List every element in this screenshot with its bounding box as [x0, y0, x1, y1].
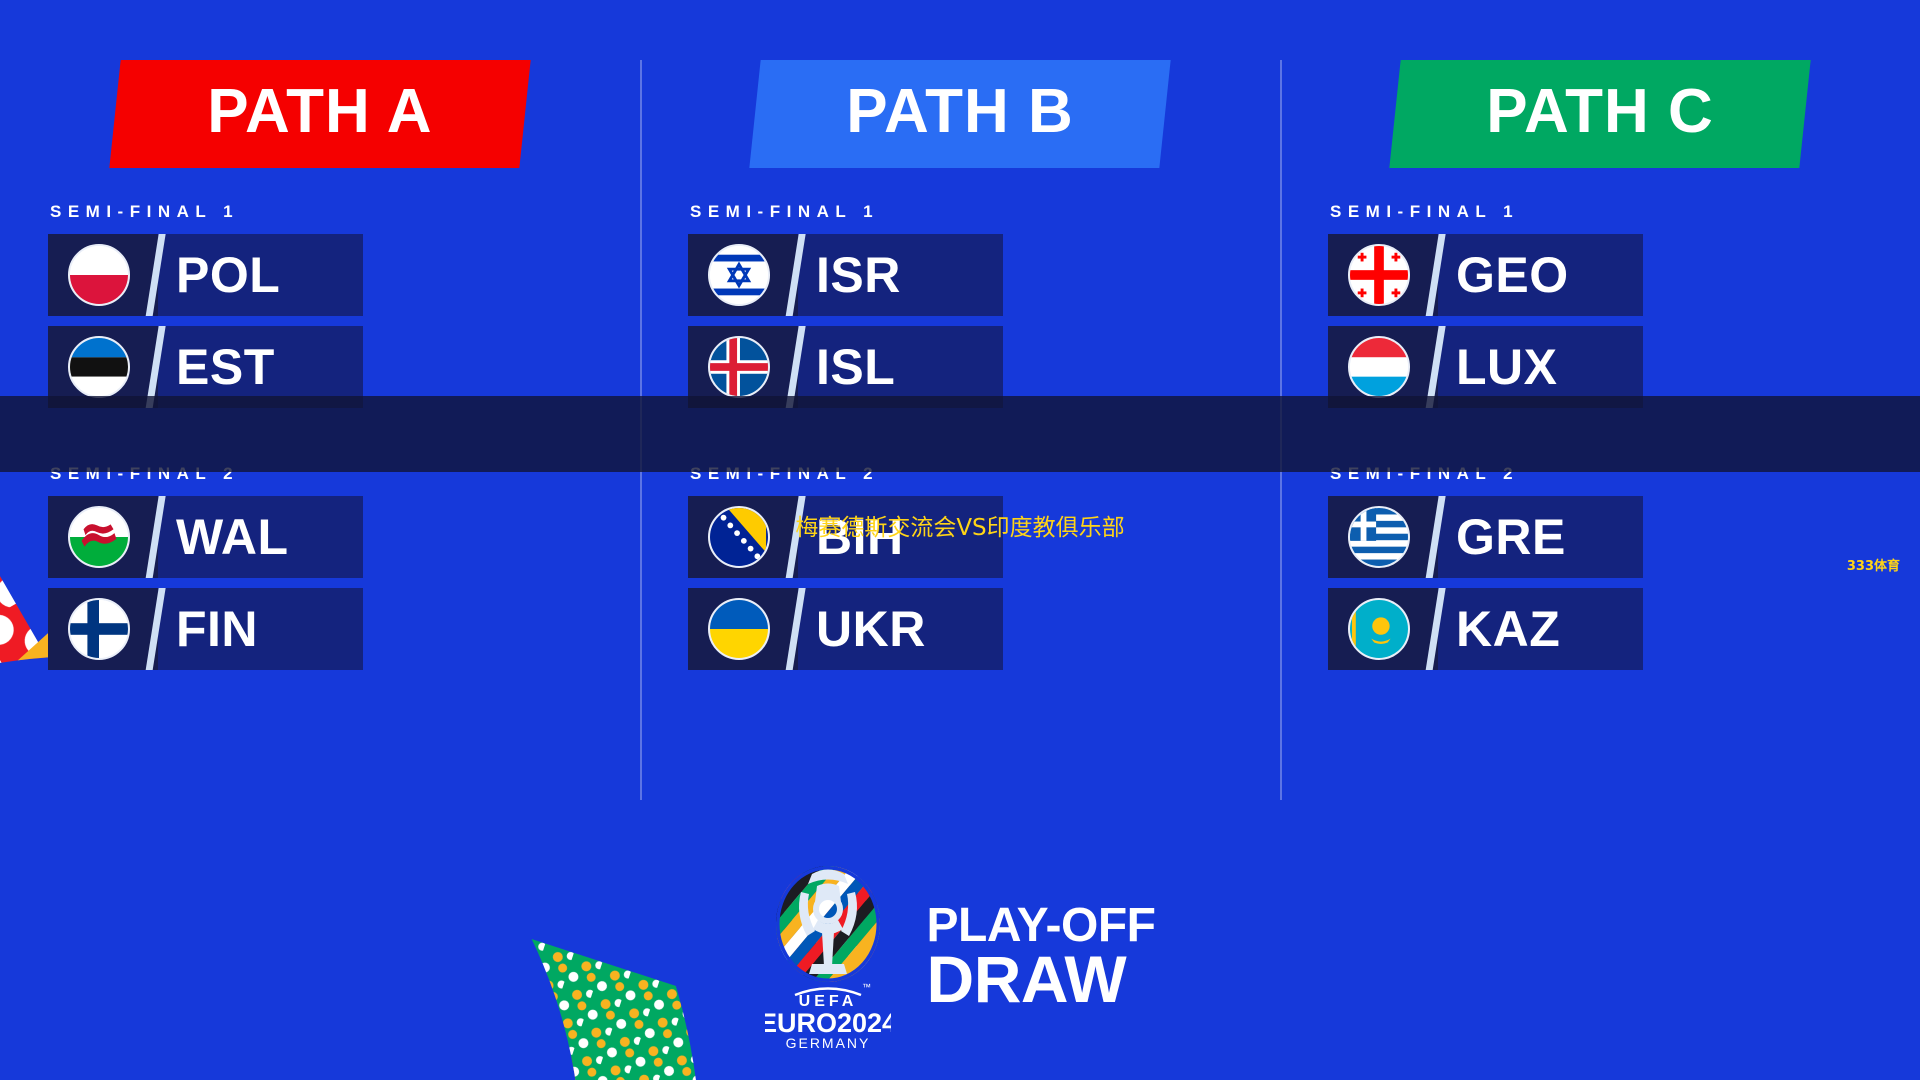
team-row[interactable]: ISR: [688, 234, 1003, 316]
team-code: GEO: [1456, 250, 1569, 300]
path-banner-label-a: PATH A: [208, 81, 433, 143]
team-rows-a1: POL EST: [48, 234, 640, 408]
semifinal-label-a1: SEMI-FINAL 1: [50, 202, 640, 222]
iceland-flag-icon: [708, 336, 770, 398]
team-row[interactable]: FIN: [48, 588, 363, 670]
ukraine-flag-icon: [708, 598, 770, 660]
watermark-text: 333体育: [1847, 555, 1900, 574]
team-code: ISR: [816, 250, 901, 300]
team-code: EST: [176, 342, 275, 392]
path-banner-b: PATH B: [749, 60, 1170, 168]
playoff-draw-title: PLAY-OFF DRAW: [927, 903, 1156, 1011]
team-row[interactable]: KAZ: [1328, 588, 1643, 670]
semifinal-label-c1: SEMI-FINAL 1: [1330, 202, 1920, 222]
team-code: LUX: [1456, 342, 1558, 392]
team-row[interactable]: POL: [48, 234, 363, 316]
team-code: KAZ: [1456, 604, 1560, 654]
logo-euro-2024-text: EURO2024: [765, 1008, 891, 1038]
banner-wrap-c: PATH C: [1280, 60, 1920, 168]
banner-wrap-a: PATH A: [0, 60, 640, 168]
footer: ™ UEFA EURO2024 GERMANY PLAY-OFF DRAW: [0, 862, 1920, 1052]
poland-flag-icon: [68, 244, 130, 306]
team-code: UKR: [816, 604, 926, 654]
playoff-title-line2: DRAW: [927, 948, 1156, 1011]
finland-flag-icon: [68, 598, 130, 660]
team-rows-b1: ISR ISL: [688, 234, 1280, 408]
kazakhstan-flag-icon: [1348, 598, 1410, 660]
team-code: FIN: [176, 604, 258, 654]
path-banner-label-c: PATH C: [1486, 81, 1714, 143]
path-banner-c: PATH C: [1389, 60, 1810, 168]
georgia-flag-icon: [1348, 244, 1410, 306]
team-rows-c1: GEO LUX: [1328, 234, 1920, 408]
path-banner-label-b: PATH B: [846, 81, 1074, 143]
luxembourg-flag-icon: [1348, 336, 1410, 398]
logo-germany-text: GERMANY: [785, 1035, 870, 1051]
israel-flag-icon: [708, 244, 770, 306]
team-row[interactable]: UKR: [688, 588, 1003, 670]
video-player-overlay-bar: [0, 396, 1920, 472]
path-banner-a: PATH A: [109, 60, 530, 168]
estonia-flag-icon: [68, 336, 130, 398]
semifinal-label-b1: SEMI-FINAL 1: [690, 202, 1280, 222]
svg-text:™: ™: [862, 982, 871, 992]
uefa-euro-2024-logo: ™ UEFA EURO2024 GERMANY: [765, 862, 891, 1052]
team-code: ISL: [816, 342, 895, 392]
team-code: POL: [176, 250, 280, 300]
banner-wrap-b: PATH B: [640, 60, 1280, 168]
team-row[interactable]: GEO: [1328, 234, 1643, 316]
overlay-caption-text: 梅赛德斯交流会VS印度教俱乐部: [0, 508, 1920, 542]
